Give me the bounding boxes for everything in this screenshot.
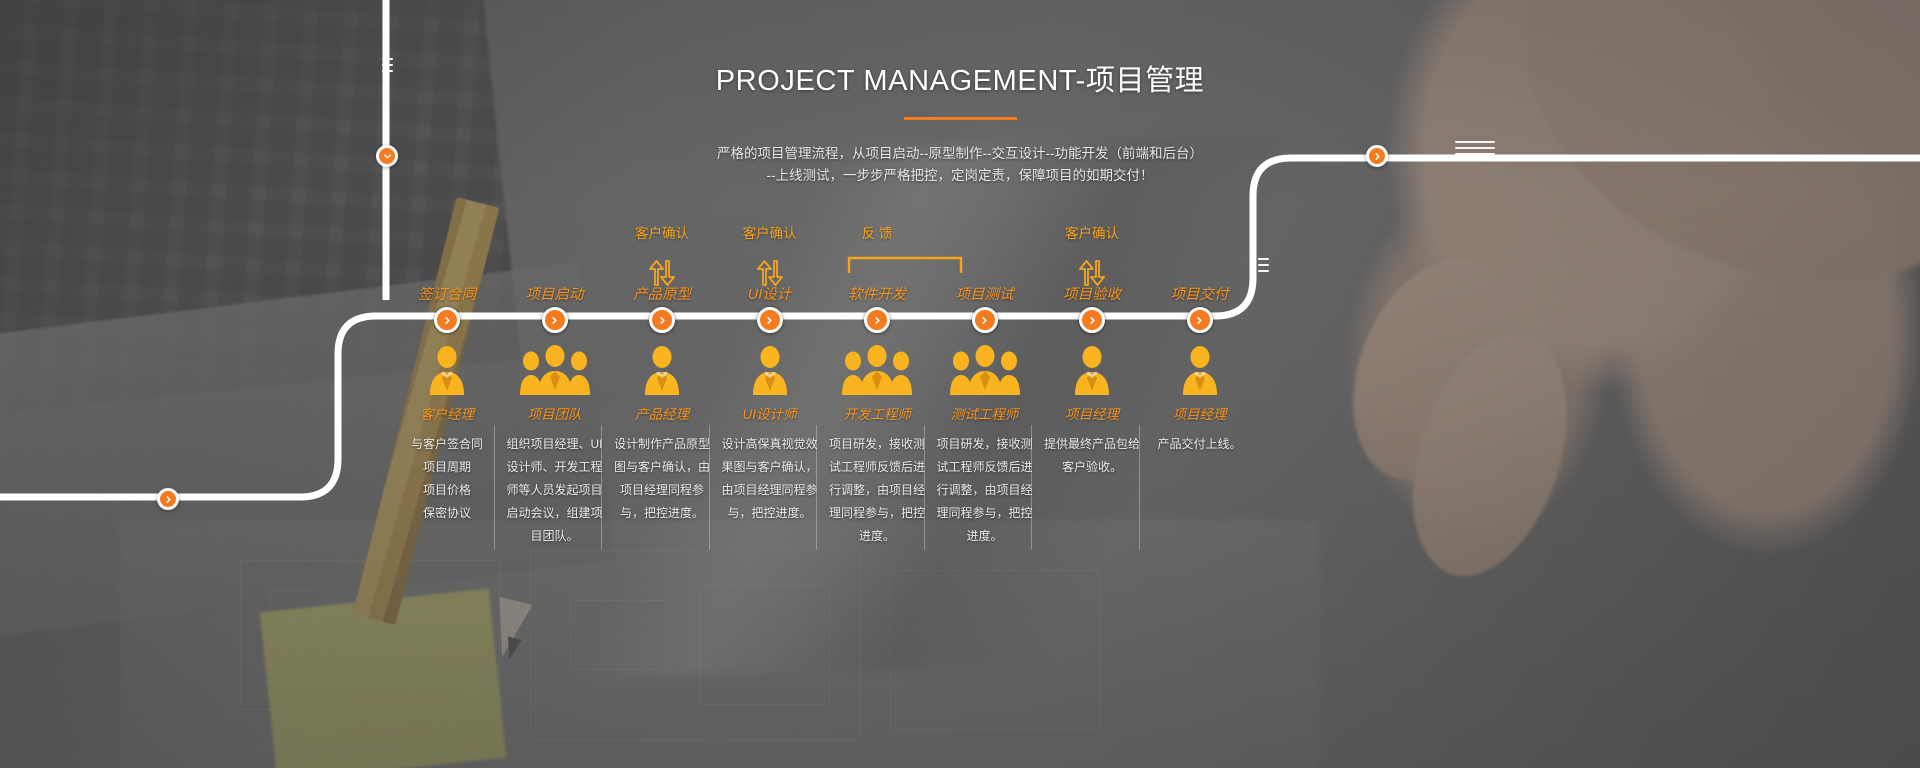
confirm-text: 反 馈 bbox=[820, 225, 934, 242]
role-title: UI设计师 bbox=[713, 403, 827, 423]
step-node-button[interactable] bbox=[972, 307, 998, 333]
step-node-button[interactable] bbox=[434, 307, 460, 333]
step-description: 设计制作产品原型图与客户确认，由项目经理同程参与，把控进度。 bbox=[612, 433, 712, 525]
role-avatar bbox=[498, 345, 612, 397]
timeline-step[interactable]: 项目启动项目团队组织项目经理、UI设计师、开发工程师等人员发起项目启动会议，组建… bbox=[498, 225, 612, 288]
step-node-button[interactable] bbox=[649, 307, 675, 333]
process-timeline: 签订合同客户经理与客户签合同项目周期项目价格保密协议项目启动项目团队组织项目经理… bbox=[390, 225, 1640, 555]
step-description: 项目研发，接收测试工程师反馈后进行调整，由项目经理同程参与，把控进度。 bbox=[827, 433, 927, 548]
person-icon bbox=[750, 345, 790, 395]
team-icon bbox=[842, 345, 912, 395]
customer-confirm-label bbox=[498, 225, 612, 259]
column-divider bbox=[1139, 425, 1140, 550]
chevron-right-icon bbox=[443, 316, 452, 325]
dash-marks-left bbox=[382, 58, 393, 72]
chevron-right-icon bbox=[550, 316, 559, 325]
column-divider bbox=[709, 425, 710, 550]
step-node-button[interactable] bbox=[757, 307, 783, 333]
step-node-button[interactable] bbox=[864, 307, 890, 333]
wire-node-top-left[interactable] bbox=[376, 145, 398, 167]
dash-marks-right-vert bbox=[1258, 258, 1269, 272]
step-name: 项目测试 bbox=[928, 283, 1042, 304]
chevron-right-icon bbox=[1373, 152, 1382, 161]
wire-node-top-right[interactable] bbox=[1366, 145, 1388, 167]
customer-confirm-label bbox=[928, 225, 1042, 259]
page-subtitle: 严格的项目管理流程，从项目启动--原型制作--交互设计--功能开发（前端和后台）… bbox=[510, 143, 1410, 187]
step-description: 组织项目经理、UI设计师、开发工程师等人员发起项目启动会议，组建项目团队。 bbox=[505, 433, 605, 548]
role-title: 开发工程师 bbox=[820, 403, 934, 423]
chevron-right-icon bbox=[873, 316, 882, 325]
role-avatar bbox=[1035, 345, 1149, 397]
role-avatar bbox=[928, 345, 1042, 397]
timeline-step[interactable]: 客户确认产品原型产品经理设计制作产品原型图与客户确认，由项目经理同程参与，把控进… bbox=[605, 225, 719, 288]
timeline-step[interactable]: 客户确认UI设计UI设计师设计高保真视觉效果图与客户确认，由项目经理同程参与，把… bbox=[713, 225, 827, 288]
step-name: 项目启动 bbox=[498, 283, 612, 304]
role-title: 项目经理 bbox=[1035, 403, 1149, 423]
step-name: UI设计 bbox=[713, 283, 827, 304]
customer-confirm-label: 客户确认 bbox=[713, 225, 827, 259]
step-node-button[interactable] bbox=[1187, 307, 1213, 333]
step-name: 签订合同 bbox=[390, 283, 504, 304]
chevron-right-icon bbox=[1088, 316, 1097, 325]
timeline-step[interactable]: 签订合同客户经理与客户签合同项目周期项目价格保密协议 bbox=[390, 225, 504, 288]
role-title: 项目团队 bbox=[498, 403, 612, 423]
subtitle-line-1: 严格的项目管理流程，从项目启动--原型制作--交互设计--功能开发（前端和后台） bbox=[510, 143, 1410, 165]
step-description: 设计高保真视觉效果图与客户确认，由项目经理同程参与，把控进度。 bbox=[720, 433, 820, 525]
subtitle-line-2: --上线测试，一步步严格把控，定岗定责，保障项目的如期交付！ bbox=[510, 165, 1410, 187]
timeline-step[interactable]: 项目交付项目经理产品交付上线。 bbox=[1143, 225, 1257, 288]
chevron-right-icon bbox=[1195, 316, 1204, 325]
role-title: 测试工程师 bbox=[928, 403, 1042, 423]
step-description: 项目研发，接收测试工程师反馈后进行调整，由项目经理同程参与，把控进度。 bbox=[935, 433, 1035, 548]
role-title: 项目经理 bbox=[1143, 403, 1257, 423]
step-name: 项目验收 bbox=[1035, 283, 1149, 304]
chevron-right-icon bbox=[765, 316, 774, 325]
customer-confirm-label: 客户确认 bbox=[605, 225, 719, 259]
person-icon bbox=[642, 345, 682, 395]
role-avatar bbox=[820, 345, 934, 397]
person-icon bbox=[1180, 345, 1220, 395]
step-name: 软件开发 bbox=[820, 283, 934, 304]
timeline-step[interactable]: 项目测试测试工程师项目研发，接收测试工程师反馈后进行调整，由项目经理同程参与，把… bbox=[928, 225, 1042, 288]
team-icon bbox=[520, 345, 590, 395]
chevron-right-icon bbox=[980, 316, 989, 325]
timeline-step[interactable]: 反 馈软件开发开发工程师项目研发，接收测试工程师反馈后进行调整，由项目经理同程参… bbox=[820, 225, 934, 288]
page-title: PROJECT MANAGEMENT-项目管理 bbox=[0, 57, 1920, 99]
role-avatar bbox=[1143, 345, 1257, 397]
customer-confirm-label bbox=[1143, 225, 1257, 259]
step-node-button[interactable] bbox=[542, 307, 568, 333]
person-icon bbox=[427, 345, 467, 395]
column-divider bbox=[924, 425, 925, 550]
chevron-down-icon bbox=[383, 152, 392, 161]
customer-confirm-label bbox=[390, 225, 504, 259]
step-name: 项目交付 bbox=[1143, 283, 1257, 304]
step-description: 提供最终产品包给客户验收。 bbox=[1042, 433, 1142, 479]
confirm-text: 客户确认 bbox=[1035, 225, 1149, 242]
step-name: 产品原型 bbox=[605, 283, 719, 304]
dash-marks-right bbox=[1455, 141, 1495, 155]
customer-confirm-label: 客户确认 bbox=[1035, 225, 1149, 259]
column-divider bbox=[494, 425, 495, 550]
confirm-text: 客户确认 bbox=[605, 225, 719, 242]
confirm-text: 客户确认 bbox=[713, 225, 827, 242]
column-divider bbox=[1031, 425, 1032, 550]
chevron-right-icon bbox=[164, 495, 173, 504]
step-description: 产品交付上线。 bbox=[1150, 433, 1250, 456]
team-icon bbox=[950, 345, 1020, 395]
title-underline bbox=[904, 117, 1017, 120]
role-title: 产品经理 bbox=[605, 403, 719, 423]
role-avatar bbox=[605, 345, 719, 397]
wire-node-bottom-left[interactable] bbox=[157, 488, 179, 510]
person-icon bbox=[1072, 345, 1112, 395]
customer-confirm-label: 反 馈 bbox=[820, 225, 934, 259]
step-description: 与客户签合同项目周期项目价格保密协议 bbox=[397, 433, 497, 525]
step-node-button[interactable] bbox=[1079, 307, 1105, 333]
chevron-right-icon bbox=[658, 316, 667, 325]
role-avatar bbox=[713, 345, 827, 397]
column-divider bbox=[816, 425, 817, 550]
timeline-step[interactable]: 客户确认项目验收项目经理提供最终产品包给客户验收。 bbox=[1035, 225, 1149, 288]
column-divider bbox=[601, 425, 602, 550]
role-title: 客户经理 bbox=[390, 403, 504, 423]
role-avatar bbox=[390, 345, 504, 397]
